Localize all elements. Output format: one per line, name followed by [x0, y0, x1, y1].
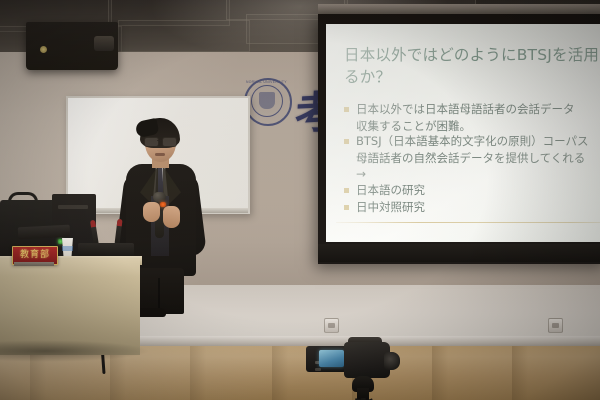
slide-title: 日本以外ではどのようにBTSJを活用 るか？: [344, 44, 600, 88]
projection-screen-bottom-bar: [318, 244, 600, 262]
pc-drive-slot: [58, 205, 88, 209]
paper-cup-band: [62, 246, 73, 251]
presenter-glasses: [144, 137, 177, 145]
presenter-shoe: [136, 308, 166, 317]
slide-divider: [336, 222, 600, 223]
power-outlet-icon: [548, 318, 563, 333]
presenter-left-hand: [143, 202, 160, 222]
glasses-bridge: [157, 140, 164, 141]
slide-sub-bullet: 日中対照研究: [342, 200, 600, 216]
wifi-router-icon: [78, 243, 134, 257]
slide-bullet-continuation: 母語話者の自然会話データを提供してくれる: [342, 151, 600, 167]
slide-bullet: BTSJ（日本語基本的文字化の原則）コーパス: [342, 134, 600, 150]
slide-bullet: 日本以外では日本語母語話者の会話データ: [342, 102, 600, 118]
slide-bullet-continuation: 収集することが困難。: [342, 119, 600, 135]
presenter-mouth: [155, 153, 165, 156]
slide-arrow: →: [342, 166, 600, 183]
power-outlet-icon: [324, 318, 339, 333]
camcorder-lcd-screen: [319, 350, 344, 367]
lecture-hall-photo: NORMAL UNIVERSITY 考 日本以外ではどのようにBTSJを活用 る…: [0, 0, 600, 400]
camcorder-lens: [384, 352, 400, 370]
camcorder-button: [315, 368, 321, 371]
presenter-right-hand: [163, 206, 180, 228]
speaker-knob: [94, 36, 114, 51]
university-seal-icon: NORMAL UNIVERSITY: [244, 78, 292, 126]
slide-sub-bullet: 日本語の研究: [342, 183, 600, 199]
microphone-head: [153, 192, 166, 202]
name-plate-stand: [14, 262, 54, 266]
seal-text: NORMAL UNIVERSITY: [246, 80, 290, 124]
presentation-slide: 日本以外ではどのようにBTSJを活用 るか？ 日本以外では日本語母語話者の会話デ…: [326, 24, 600, 242]
speaker-indicator: [40, 46, 47, 53]
name-plate-text: 教育部: [13, 249, 57, 261]
wall-speaker-icon: [26, 22, 118, 70]
camcorder-icon: [300, 336, 402, 400]
podium-floor-shadow: [0, 340, 150, 362]
slide-body: 日本以外では日本語母語話者の会話データ 収集することが困難。 BTSJ（日本語基…: [342, 102, 600, 216]
